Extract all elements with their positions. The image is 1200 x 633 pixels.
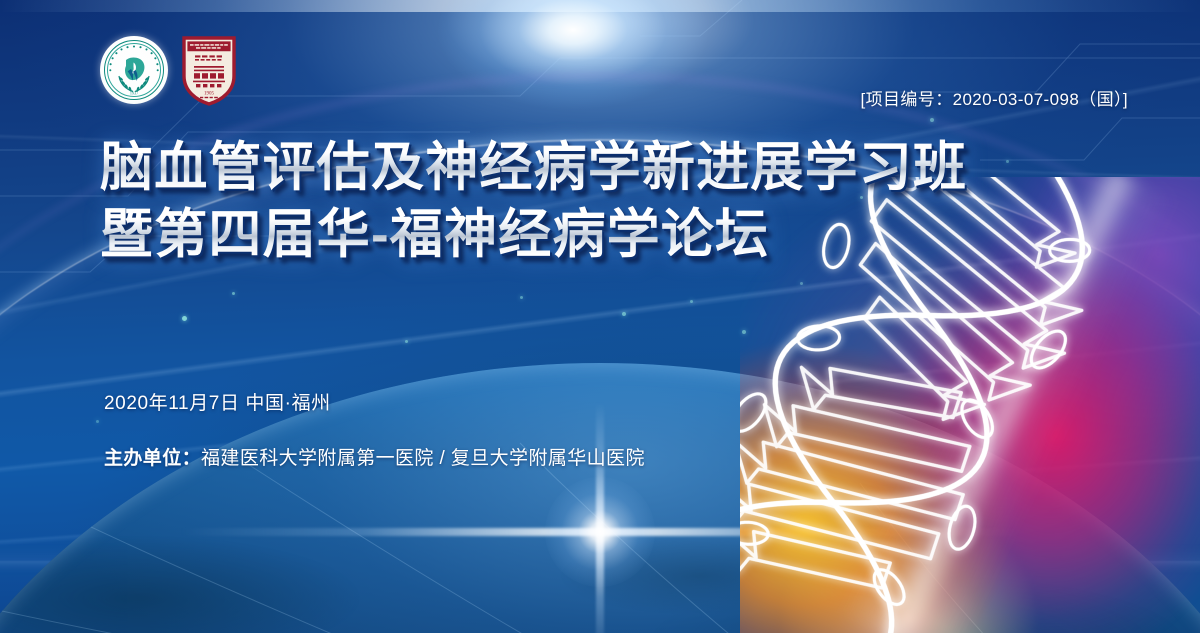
- conference-banner: 1937: [0, 0, 1200, 633]
- event-host-value: 福建医科大学附属第一医院 / 复旦大学附属华山医院: [201, 448, 645, 469]
- svg-text:1905: 1905: [204, 92, 215, 97]
- event-meta: 2020年11月7日 中国·福州 主办单位：福建医科大学附属第一医院 / 复旦大…: [104, 388, 645, 470]
- fudan-university-crest-icon: 1905: [182, 36, 236, 106]
- banner-content: 1937: [0, 0, 1200, 633]
- title-line-1: 脑血管评估及神经病学新进展学习班: [100, 136, 967, 199]
- fujian-medical-university-first-hospital-emblem-icon: 1937: [100, 36, 168, 104]
- title-line-2: 暨第四届华-福神经病学论坛: [100, 203, 967, 266]
- event-date-location: 2020年11月7日 中国·福州: [104, 388, 645, 415]
- svg-text:1937: 1937: [130, 91, 138, 96]
- logo-group: 1937: [100, 36, 236, 106]
- event-host: 主办单位：福建医科大学附属第一医院 / 复旦大学附属华山医院: [104, 443, 645, 470]
- project-number: [项目编号：2020-03-07-098（国）]: [860, 85, 1128, 110]
- event-host-label: 主办单位：: [104, 448, 201, 469]
- page-title: 脑血管评估及神经病学新进展学习班 暨第四届华-福神经病学论坛: [100, 136, 967, 266]
